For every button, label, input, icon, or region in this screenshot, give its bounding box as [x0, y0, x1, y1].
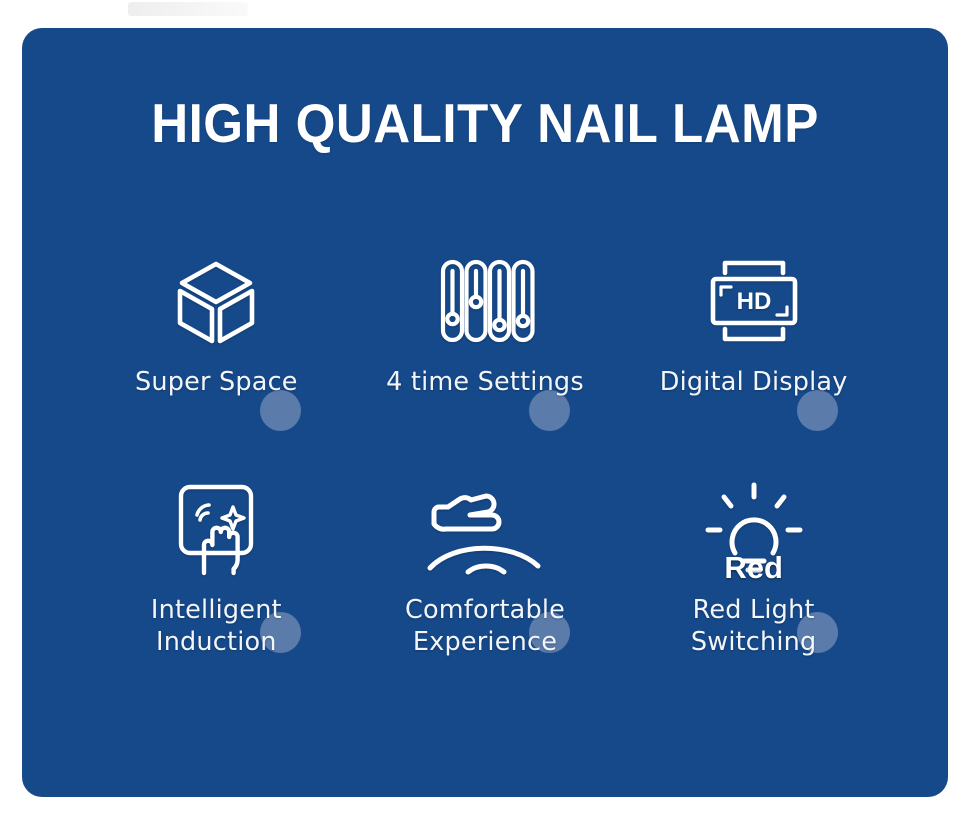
feature-item-red-light-switching: Red Red Light Switching [619, 481, 888, 709]
open-box-icon [168, 253, 264, 349]
hand-over-arc-icon [437, 481, 533, 577]
page-title: HIGH QUALITY NAIL LAMP [54, 96, 915, 151]
feature-grid: Super Space [82, 253, 888, 709]
red-label: Red [706, 552, 802, 583]
svg-text:HD: HD [736, 288, 771, 315]
promo-banner: HIGH QUALITY NAIL LAMP Super Space [22, 28, 948, 797]
hand-sensor-panel-icon [168, 481, 264, 577]
feature-label: Digital Display [660, 367, 848, 399]
feature-label: Super Space [135, 367, 298, 399]
four-sliders-icon [437, 253, 533, 349]
feature-item-comfortable-experience: Comfortable Experience [351, 481, 620, 709]
feature-item-digital-display: HD Digital Display [619, 253, 888, 481]
feature-label: Comfortable Experience [405, 595, 565, 658]
feature-item-time-settings: 4 time Settings [351, 253, 620, 481]
hd-display-icon: HD [706, 253, 802, 349]
top-edge-artifact [128, 2, 248, 16]
feature-item-super-space: Super Space [82, 253, 351, 481]
feature-label: Red Light Switching [691, 595, 817, 658]
light-bulb-rays-icon: Red [706, 481, 802, 577]
feature-item-intelligent-induction: Intelligent Induction [82, 481, 351, 709]
feature-label: Intelligent Induction [151, 595, 282, 658]
feature-label: 4 time Settings [386, 367, 584, 399]
